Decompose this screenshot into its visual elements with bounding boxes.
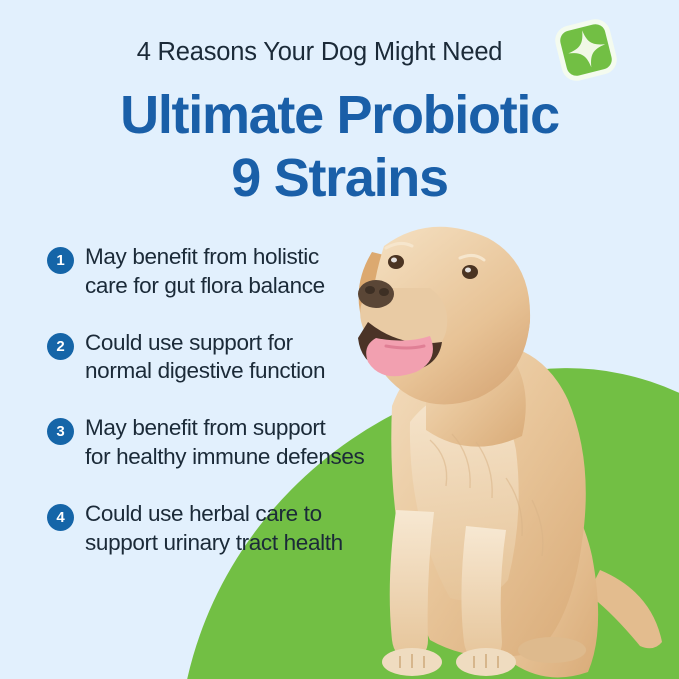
list-item: 3 May benefit from support for healthy i…	[47, 414, 397, 472]
benefit-text: May benefit from support for healthy imm…	[85, 414, 364, 472]
benefit-list: 1 May benefit from holistic care for gut…	[47, 243, 397, 585]
benefit-text: May benefit from holistic care for gut f…	[85, 243, 325, 301]
list-item: 1 May benefit from holistic care for gut…	[47, 243, 397, 301]
list-item: 4 Could use herbal care to support urina…	[47, 500, 397, 558]
number-badge: 2	[47, 333, 74, 360]
number-badge: 1	[47, 247, 74, 274]
infographic-canvas: 4 Reasons Your Dog Might Need Ultimate P…	[0, 0, 679, 679]
page-title: Ultimate Probiotic 9 Strains	[0, 84, 679, 209]
sparkle-badge-logo	[552, 16, 620, 84]
benefit-text: Could use support for normal digestive f…	[85, 329, 325, 387]
list-item: 2 Could use support for normal digestive…	[47, 329, 397, 387]
four-pointed-star-icon	[545, 9, 627, 91]
number-badge: 4	[47, 504, 74, 531]
number-badge: 3	[47, 418, 74, 445]
benefit-text: Could use herbal care to support urinary…	[85, 500, 343, 558]
